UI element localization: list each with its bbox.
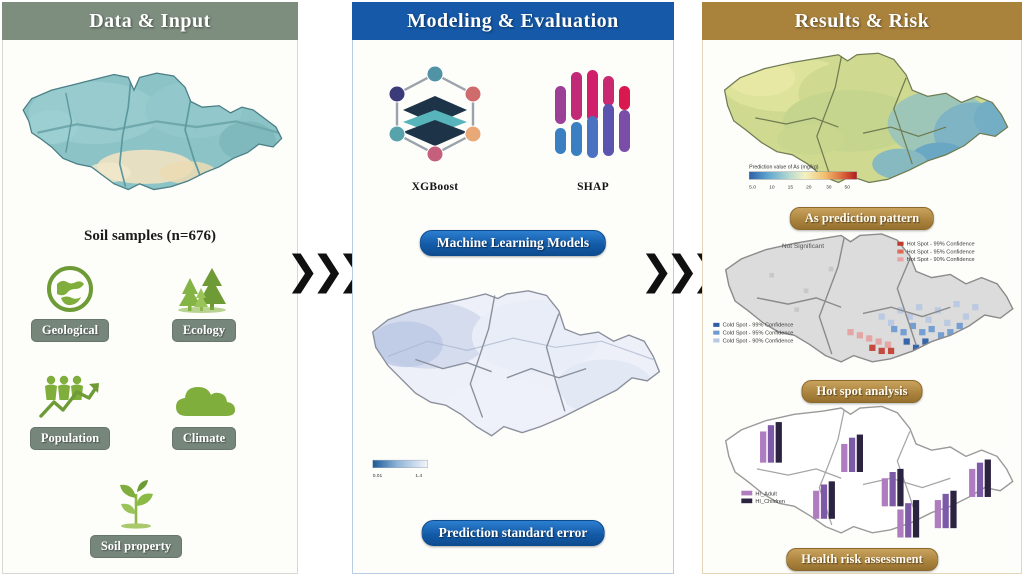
forest-icon <box>145 262 263 314</box>
svg-text:Hot Spot - 90% Confidence: Hot Spot - 90% Confidence <box>907 257 975 263</box>
model-shap[interactable]: SHAP <box>533 60 653 193</box>
error-map-legend: 0.01 1.4 <box>373 460 428 479</box>
svg-text:30: 30 <box>826 185 832 191</box>
feature-label-soil-property: Soil property <box>90 535 182 558</box>
cloud-icon <box>145 370 263 422</box>
feature-label-ecology: Ecology <box>172 319 236 342</box>
panel-modeling-evaluation: Modeling & Evaluation <box>352 2 674 574</box>
hotspot-legend-right: Hot Spot - 99% Confidence Hot Spot - 95%… <box>897 242 974 264</box>
panel-right-title: Results & Risk <box>702 2 1022 40</box>
globe-icon <box>11 262 129 314</box>
svg-text:Cold Spot - 90% Confidence: Cold Spot - 90% Confidence <box>723 338 794 344</box>
svg-text:50: 50 <box>845 185 851 191</box>
feature-population[interactable]: Population <box>11 370 129 450</box>
panel-data-input: Data & Input <box>2 2 298 574</box>
panel-right-body: Prediction value of As (mg/kg) 5.010 152… <box>702 40 1022 574</box>
svg-text:Cold Spot - 95% Confidence: Cold Spot - 95% Confidence <box>723 331 794 337</box>
svg-text:Hot Spot - 95% Confidence: Hot Spot - 95% Confidence <box>907 249 975 255</box>
feature-label-population: Population <box>30 427 110 450</box>
svg-text:10: 10 <box>769 185 775 191</box>
svg-text:Hot Spot - 99% Confidence: Hot Spot - 99% Confidence <box>907 242 975 248</box>
feature-ecology[interactable]: Ecology <box>145 262 263 342</box>
feature-label-geological: Geological <box>31 319 109 342</box>
as-prediction-pattern-map: Prediction value of As (mg/kg) 5.010 152… <box>707 44 1019 204</box>
shap-beeswarm-icon <box>539 60 647 168</box>
population-growth-icon <box>11 370 129 422</box>
svg-text:HI_Adult: HI_Adult <box>755 491 777 497</box>
flow-arrow-1: ❯❯❯ <box>298 248 350 294</box>
health-risk-assessment-map: HI_Adult HI_Children <box>707 400 1019 544</box>
panel-middle-title: Modeling & Evaluation <box>352 2 674 40</box>
tibetan-plateau-sample-map <box>9 52 293 222</box>
panel-middle-body: XGBoost <box>352 40 674 574</box>
model-xgboost[interactable]: XGBoost <box>375 60 495 193</box>
feature-geological[interactable]: Geological <box>11 262 129 342</box>
svg-text:15: 15 <box>788 185 794 191</box>
model-caption-shap: SHAP <box>533 181 653 193</box>
panel-left-title: Data & Input <box>2 2 298 40</box>
feature-label-climate: Climate <box>172 427 236 450</box>
svg-text:5.0: 5.0 <box>749 185 756 191</box>
graphical-abstract-root: Data & Input <box>0 0 1024 576</box>
hotspot-legend-left: Cold Spot - 99% Confidence Cold Spot - 9… <box>713 323 793 345</box>
svg-text:Cold Spot - 99% Confidence: Cold Spot - 99% Confidence <box>723 323 794 329</box>
svg-text:HI_Children: HI_Children <box>755 499 785 505</box>
panel-results-risk: Results & Risk <box>702 2 1022 574</box>
feature-soil-property[interactable]: Soil property <box>77 478 195 558</box>
prediction-standard-error-pill: Prediction standard error <box>422 520 605 546</box>
model-caption-xgboost: XGBoost <box>375 181 495 193</box>
feature-climate[interactable]: Climate <box>145 370 263 450</box>
svg-text:1.4: 1.4 <box>415 473 422 479</box>
svg-text:0.01: 0.01 <box>373 473 383 479</box>
flow-arrow-2: ❯❯❯ <box>652 248 704 294</box>
prediction-standard-error-map: 0.01 1.4 <box>357 268 669 512</box>
machine-learning-models-pill: Machine Learning Models <box>420 230 606 256</box>
hexagon-network-icon <box>381 60 489 168</box>
svg-text:Prediction value of As (mg/kg): Prediction value of As (mg/kg) <box>749 165 819 171</box>
plant-sprout-icon <box>77 478 195 530</box>
health-risk-assessment-pill: Health risk assessment <box>786 548 938 571</box>
svg-text:Not Significant: Not Significant <box>782 243 824 250</box>
soil-sample-caption: Soil samples (n=676) <box>3 228 297 245</box>
svg-text:20: 20 <box>806 185 812 191</box>
panel-left-body: Soil samples (n=676) Geological <box>2 40 298 574</box>
hot-spot-analysis-map: Not Significant Hot Spot - 99% Confidenc… <box>707 226 1019 376</box>
